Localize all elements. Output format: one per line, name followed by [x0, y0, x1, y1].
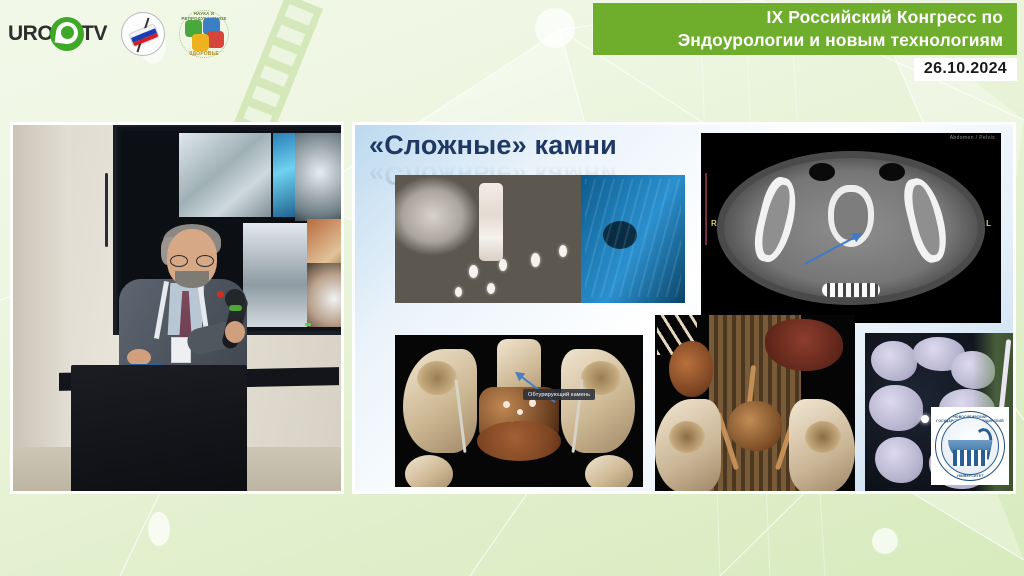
presentation-slide-panel[interactable]: «Сложные» камни «Сложные» камни Abdomen … [352, 122, 1016, 494]
speaker-video-panel[interactable] [10, 122, 344, 494]
axial-ct-marker-right: R [711, 219, 717, 228]
puzzle-piece-red-icon [207, 31, 224, 48]
pelvis-3d-fragment-1 [503, 401, 510, 408]
puzzle-bottom-text: ЗДОРОВЬЕ [179, 51, 229, 57]
background-circle-1 [535, 8, 575, 48]
wall-column [13, 125, 71, 491]
background-circle-3 [872, 528, 898, 554]
urotv-suffix-text: TV [81, 22, 107, 46]
microphone-red-dot-icon [217, 291, 224, 298]
angio-3d-bladder-mass [728, 401, 782, 451]
sagittal-ct-stone [921, 415, 929, 423]
slide-image-pelvis-3d: Обтурирующий камень [395, 335, 643, 487]
university-logo-outer-ring: НОВОСИБИРСКИЙ ГОСУДАРСТВЕННЫЙ МЕДИЦИНСКИ… [935, 411, 1005, 481]
coronal-ct-stone-4 [559, 245, 567, 257]
glasses-icon [169, 255, 215, 267]
sagittal-ct-structure-6 [875, 437, 923, 483]
congress-title-line2: Эндоурологии и новым технологиям [678, 29, 1003, 52]
angio-3d-kidney-left [669, 341, 713, 397]
sagittal-ct-structure-4 [869, 385, 923, 431]
pelvis-3d-femur-left [405, 455, 453, 487]
angio-3d-acetabulum-right [805, 421, 841, 453]
coronal-ct-stone-1 [469, 265, 478, 278]
axial-ct-bowel-gas-1 [809, 163, 835, 181]
coronal-ct-spine [479, 183, 503, 261]
university-logo-bottom-text: УНИВЕРСИТЕТ [936, 474, 1004, 478]
pelvis-3d-bladder-stone [477, 421, 561, 461]
puzzle-piece-yellow-icon [192, 34, 209, 51]
coronal-ct-stone-3 [531, 253, 540, 267]
axial-ct-header-text: Abdomen / Pelvis [950, 135, 995, 141]
angio-3d-liver [765, 319, 843, 371]
urotv-prefix-text: URO [8, 22, 53, 46]
urotv-logo: URO TV [8, 14, 107, 54]
slide-title: «Сложные» камни [369, 130, 617, 161]
coronal-ct-stone-2 [499, 259, 507, 271]
pelvis-3d-fragment-2 [517, 409, 523, 415]
axial-ct-marker-left: L [986, 219, 991, 228]
university-logo-inner [941, 417, 999, 475]
coronal-ct-stone-6 [487, 283, 495, 294]
screen-cable [105, 173, 108, 247]
screen-root: URO TV НАУКА И РЕПРОДУКТИВНОЕ ЗДОРОВЬЕ I… [0, 0, 1024, 576]
congress-title-banner: IX Российский Конгресс по Эндоурологии и… [593, 3, 1017, 55]
angio-3d-acetabulum-left [669, 421, 705, 453]
pelvis-3d-acetabulum-left [417, 361, 457, 395]
podium [71, 365, 247, 494]
presenter-hand-right [225, 321, 245, 343]
screen-thumb-ct-1 [179, 133, 271, 217]
broadcast-logo-row: URO TV НАУКА И РЕПРОДУКТИВНОЕ ЗДОРОВЬЕ [8, 8, 229, 60]
congress-title-line1: IX Российский Конгресс по [767, 6, 1003, 29]
axial-ct-scale-bar [705, 173, 707, 245]
microphone-green-band [229, 305, 242, 311]
university-logo: НОВОСИБИРСКИЙ ГОСУДАРСТВЕННЫЙ МЕДИЦИНСКИ… [931, 407, 1009, 485]
pelvis-3d-fragment-3 [529, 399, 536, 407]
axial-ct-calcification [822, 283, 880, 297]
society-seal-logo [121, 12, 165, 56]
sagittal-ct-structure-1 [871, 341, 917, 381]
screen-thumb-3d-2 [307, 263, 344, 327]
coronal-ct-stone-5 [455, 287, 462, 297]
background-circle-4 [148, 512, 170, 546]
pelvis-3d-femur-right [585, 455, 633, 487]
slide-image-angio-3d [655, 315, 855, 494]
puzzle-logo: НАУКА И РЕПРОДУКТИВНОЕ ЗДОРОВЬЕ [179, 10, 229, 58]
congress-date: 26.10.2024 [914, 58, 1017, 81]
coronal-ct-rib-texture [585, 179, 681, 297]
pillars-icon [953, 450, 987, 466]
presenter-beard [175, 271, 209, 288]
screen-power-led-icon [305, 323, 311, 326]
slide-image-axial-ct: Abdomen / Pelvis R L [701, 133, 1001, 323]
slide-image-coronal-ct [395, 175, 685, 303]
urotv-orb-icon [50, 17, 84, 51]
screen-thumb-ct-3 [243, 223, 309, 327]
annotation-label-obstructing-stone: Обтурирующий камень [523, 389, 595, 400]
russian-flag-icon [130, 25, 159, 47]
screen-thumb-ct-2 [295, 133, 344, 221]
axial-ct-bowel-gas-2 [879, 163, 905, 181]
